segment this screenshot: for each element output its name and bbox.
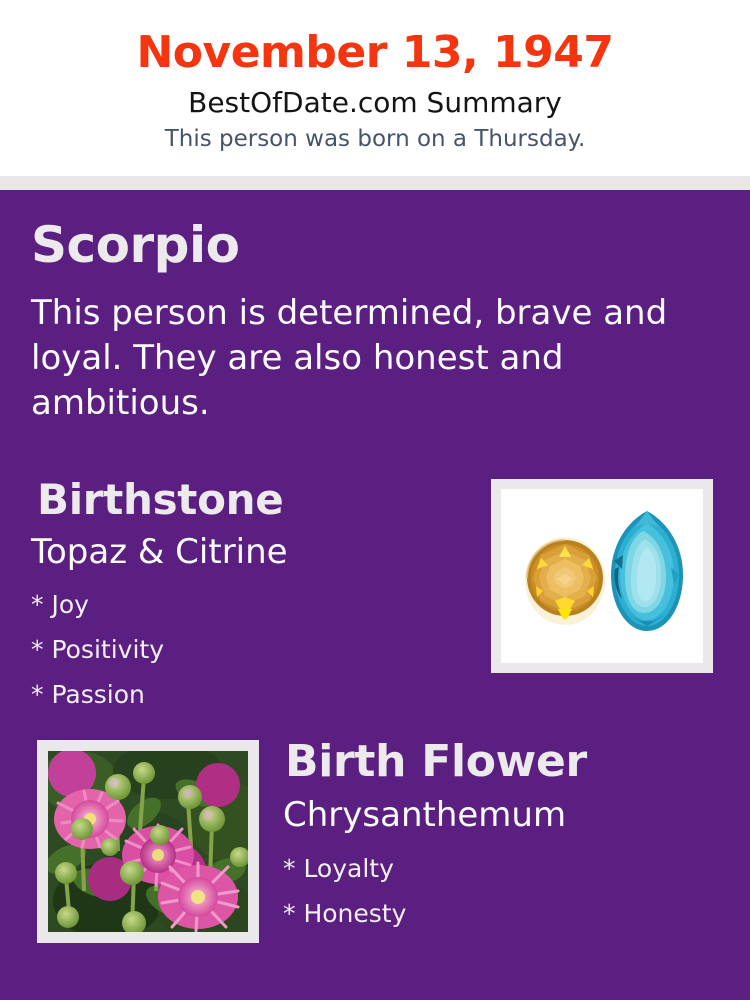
site-name-label: BestOfDate.com Summary bbox=[0, 80, 750, 120]
zodiac-sign-title: Scorpio bbox=[31, 216, 239, 274]
header-divider bbox=[0, 176, 750, 190]
birthstone-name: Topaz & Citrine bbox=[31, 531, 288, 573]
list-item: * Joy bbox=[31, 582, 164, 627]
zodiac-description: This person is determined, brave and loy… bbox=[31, 291, 701, 426]
birthflower-trait-list: * Loyalty * Honesty bbox=[283, 846, 406, 936]
birth-weekday-label: This person was born on a Thursday. bbox=[0, 120, 750, 154]
birthflower-image bbox=[48, 751, 248, 932]
gemstones-illustration bbox=[501, 489, 703, 663]
list-item: * Loyalty bbox=[283, 846, 406, 891]
list-item: * Positivity bbox=[31, 627, 164, 672]
birthflower-heading: Birth Flower bbox=[285, 735, 587, 789]
birthstone-image bbox=[501, 489, 703, 663]
summary-body: Scorpio This person is determined, brave… bbox=[0, 190, 750, 1000]
page-title-date: November 13, 1947 bbox=[0, 0, 750, 80]
citrine-gem-icon bbox=[525, 537, 605, 625]
list-item: * Honesty bbox=[283, 891, 406, 936]
birthstone-trait-list: * Joy * Positivity * Passion bbox=[31, 582, 164, 717]
summary-page: November 13, 1947 BestOfDate.com Summary… bbox=[0, 0, 750, 1000]
list-item: * Passion bbox=[31, 672, 164, 717]
birthstone-heading: Birthstone bbox=[37, 475, 283, 525]
page-header: November 13, 1947 BestOfDate.com Summary… bbox=[0, 0, 750, 176]
chrysanthemum-illustration bbox=[48, 751, 248, 932]
birthstone-image-frame bbox=[491, 479, 713, 673]
birthflower-name: Chrysanthemum bbox=[283, 794, 566, 836]
birthflower-image-frame bbox=[37, 740, 259, 943]
